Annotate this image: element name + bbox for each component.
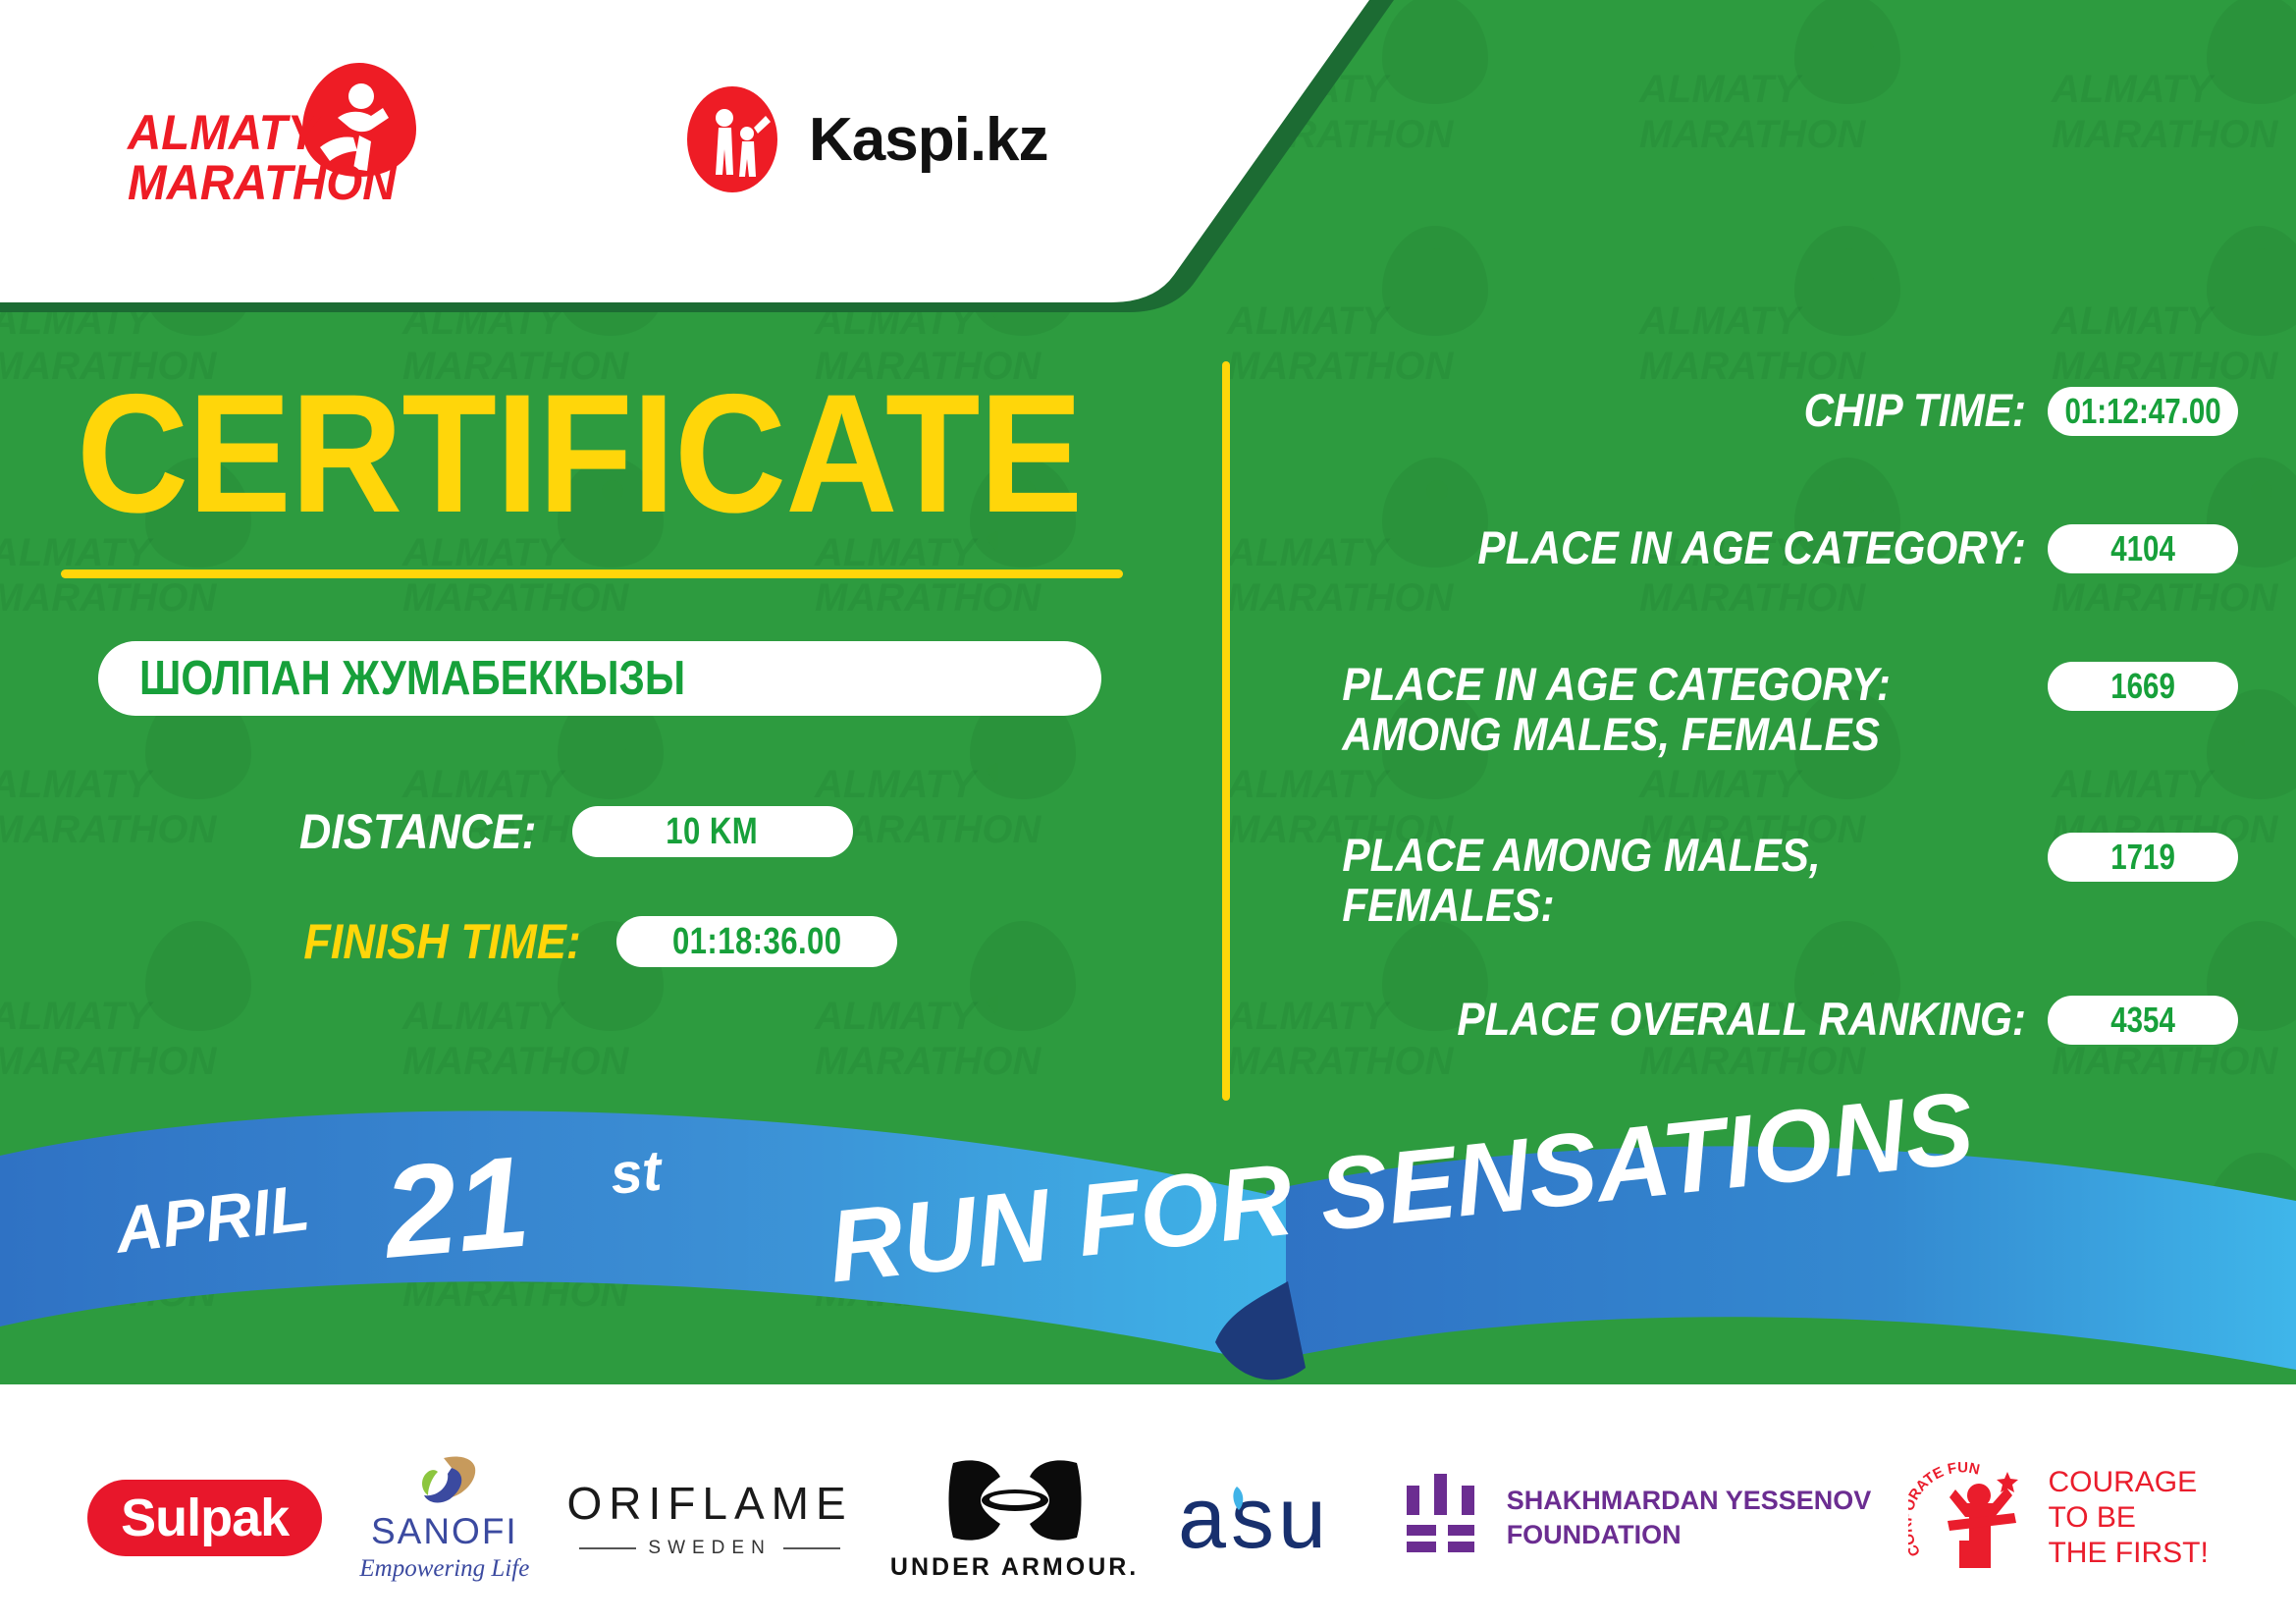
place-overall-label: PLACE OVERALL RANKING: xyxy=(1342,994,2026,1046)
watermark-logo-icon: ALMATY MARATHON xyxy=(1217,0,1541,181)
finish-time-row: FINISH TIME: 01:18:36.00 xyxy=(273,913,897,970)
certificate-page: ALMATY MARATHON ALMATY MARATHON xyxy=(0,0,2296,1624)
place-age-category-row: PLACE IN AGE CATEGORY: 4104 xyxy=(1266,522,2238,574)
distance-value: 10 KM xyxy=(667,811,759,853)
yessenov-line-2: FOUNDATION xyxy=(1507,1518,1872,1552)
svg-text:ALMATY: ALMATY xyxy=(1638,299,1803,343)
logo-line-1: ALMATY xyxy=(128,108,397,158)
distance-value-pill: 10 KM xyxy=(572,806,853,857)
watermark-logo-icon: ALMATY MARATHON xyxy=(2042,206,2296,412)
logo-line-2: MARATHON xyxy=(128,158,397,208)
place-overall-value-pill: 4354 xyxy=(2048,996,2238,1045)
svg-text:MARATHON: MARATHON xyxy=(1639,576,1866,620)
courage-fund-tagline: COURAGETO BETHE FIRST! xyxy=(2048,1465,2208,1571)
sanofi-wordmark: SANOFI xyxy=(371,1511,518,1552)
title-underline xyxy=(61,569,1123,578)
kaspi-logo: Kaspi.kz xyxy=(677,84,1048,194)
oriflame-tagline: SWEDEN xyxy=(648,1538,771,1559)
svg-text:MARATHON: MARATHON xyxy=(2052,1040,2278,1083)
svg-text:ALMATY: ALMATY xyxy=(1638,763,1803,806)
svg-text:ALMATY: ALMATY xyxy=(2051,299,2216,343)
kaspi-mark-icon xyxy=(677,84,787,194)
sulpak-wordmark: Sulpak xyxy=(121,1488,289,1548)
svg-text:a: a xyxy=(1178,1473,1226,1563)
svg-text:MARATHON: MARATHON xyxy=(1639,345,1866,388)
place-age-category-label: PLACE IN AGE CATEGORY: xyxy=(1342,522,2026,574)
place-among-gender-value: 1719 xyxy=(2110,837,2175,878)
svg-text:ALMATY: ALMATY xyxy=(0,995,154,1038)
yessenov-line-1: SHAKHMARDAN YESSENOV xyxy=(1507,1484,1872,1518)
oriflame-wordmark: ORIFLAME xyxy=(567,1477,853,1530)
courage-fund-mark-icon: CORPORATE FUND xyxy=(1908,1460,2036,1576)
under-armour-wordmark: UNDER ARMOUR. xyxy=(890,1553,1139,1582)
sanofi-mark-icon xyxy=(408,1454,481,1507)
svg-text:ALMATY: ALMATY xyxy=(1226,763,1391,806)
svg-text:MARATHON: MARATHON xyxy=(2052,113,2278,156)
courage-line: THE FIRST! xyxy=(2048,1536,2208,1571)
watermark-logo-icon: ALMATY MARATHON xyxy=(1217,206,1541,412)
svg-text:u: u xyxy=(1278,1473,1326,1563)
chip-time-value-pill: 01:12:47.00 xyxy=(2048,387,2238,436)
sponsor-logo-sulpak: Sulpak xyxy=(87,1480,322,1556)
sanofi-tagline: Empowering Life xyxy=(359,1555,529,1583)
chip-time-value: 01:12:47.00 xyxy=(2064,391,2220,432)
svg-text:ALMATY: ALMATY xyxy=(401,995,566,1038)
almaty-marathon-wordmark: ALMATY MARATHON xyxy=(128,108,397,208)
distance-row: DISTANCE: 10 KM xyxy=(273,803,853,860)
sponsor-logo-under-armour: UNDER ARMOUR. xyxy=(890,1455,1139,1582)
svg-text:MARATHON: MARATHON xyxy=(815,1040,1041,1083)
svg-text:ALMATY: ALMATY xyxy=(401,299,566,343)
svg-text:MARATHON: MARATHON xyxy=(0,1040,217,1083)
participant-name-value: ШОЛПАН ЖУМАБЕККЫЗЫ xyxy=(139,651,685,706)
sponsor-logo-oriflame: ORIFLAME SWEDEN xyxy=(567,1477,853,1559)
svg-text:MARATHON: MARATHON xyxy=(1227,113,1454,156)
watermark-logo-icon: ALMATY MARATHON xyxy=(2042,0,2296,181)
place-overall-row: PLACE OVERALL RANKING: 4354 xyxy=(1266,994,2238,1046)
sponsor-strip: Sulpak SANOFI Empowering Life ORIFLAME S… xyxy=(0,1412,2296,1624)
svg-text:MARATHON: MARATHON xyxy=(1227,576,1454,620)
svg-text:MARATHON: MARATHON xyxy=(402,576,629,620)
sponsor-logo-courage-fund: CORPORATE FUND COURAGETO BETHE FIRST! xyxy=(1908,1460,2208,1576)
svg-text:ALMATY: ALMATY xyxy=(1638,68,1803,111)
svg-text:MARATHON: MARATHON xyxy=(1227,1040,1454,1083)
svg-text:s: s xyxy=(1231,1473,1274,1563)
place-among-gender-row: PLACE AMONG MALES, FEMALES: 1719 xyxy=(1266,831,2238,931)
svg-text:MARATHON: MARATHON xyxy=(0,576,217,620)
svg-text:ALMATY: ALMATY xyxy=(0,299,154,343)
sponsor-logo-asu: a s u xyxy=(1176,1473,1362,1563)
sponsor-logo-yessenov-foundation: SHAKHMARDAN YESSENOV FOUNDATION xyxy=(1401,1470,1872,1566)
place-among-gender-label: PLACE AMONG MALES, FEMALES: xyxy=(1342,831,2026,931)
participant-name-field: ШОЛПАН ЖУМАБЕККЫЗЫ xyxy=(98,641,1101,716)
page-title: CERTIFICATE xyxy=(77,371,1082,537)
kaspi-wordmark: Kaspi.kz xyxy=(809,105,1048,175)
chip-time-row: CHIP TIME: 01:12:47.00 xyxy=(1266,385,2238,437)
svg-text:MARATHON: MARATHON xyxy=(1639,1040,1866,1083)
svg-text:MARATHON: MARATHON xyxy=(1639,113,1866,156)
chip-time-label: CHIP TIME: xyxy=(1342,385,2026,437)
place-among-gender-value-pill: 1719 xyxy=(2048,833,2238,882)
svg-text:ALMATY: ALMATY xyxy=(2051,68,2216,111)
svg-text:MARATHON: MARATHON xyxy=(0,808,217,851)
oriflame-rule-left xyxy=(579,1547,636,1549)
oriflame-sub: SWEDEN xyxy=(579,1538,839,1559)
svg-text:MARATHON: MARATHON xyxy=(2052,576,2278,620)
svg-text:ALMATY: ALMATY xyxy=(2051,763,2216,806)
svg-text:ALMATY: ALMATY xyxy=(814,763,979,806)
watermark-logo-icon: ALMATY MARATHON xyxy=(0,901,304,1108)
svg-text:ALMATY: ALMATY xyxy=(1226,68,1391,111)
svg-text:MARATHON: MARATHON xyxy=(815,576,1041,620)
svg-text:ALMATY: ALMATY xyxy=(0,763,154,806)
asu-wordmark-icon: a s u xyxy=(1176,1473,1362,1563)
finish-time-value-pill: 01:18:36.00 xyxy=(616,916,897,967)
watermark-tile: ALMATY MARATHON xyxy=(1590,0,2002,192)
ribbon-day-suffix: st xyxy=(608,1138,664,1208)
place-age-category-gender-value: 1669 xyxy=(2110,666,2175,707)
svg-text:MARATHON: MARATHON xyxy=(1227,345,1454,388)
watermark-logo-icon: ALMATY MARATHON xyxy=(1629,0,1953,181)
svg-text:ALMATY: ALMATY xyxy=(1226,299,1391,343)
distance-label: DISTANCE: xyxy=(299,803,537,860)
place-overall-value: 4354 xyxy=(2110,1000,2175,1041)
svg-text:ALMATY: ALMATY xyxy=(401,763,566,806)
sponsor-logo-sanofi: SANOFI Empowering Life xyxy=(359,1454,529,1583)
svg-text:ALMATY: ALMATY xyxy=(814,299,979,343)
place-age-category-value-pill: 4104 xyxy=(2048,524,2238,573)
watermark-tile: ALMATY MARATHON xyxy=(2002,0,2296,192)
ribbon-day: 21 xyxy=(378,1126,534,1286)
svg-text:ALMATY: ALMATY xyxy=(814,995,979,1038)
under-armour-mark-icon xyxy=(945,1455,1085,1545)
watermark-logo-icon: ALMATY MARATHON xyxy=(1629,206,1953,412)
place-age-category-value: 4104 xyxy=(2110,528,2175,569)
place-age-category-gender-label: PLACE IN AGE CATEGORY: AMONG MALES, FEMA… xyxy=(1342,660,2026,760)
yessenov-wordmark: SHAKHMARDAN YESSENOV FOUNDATION xyxy=(1507,1484,1872,1552)
courage-line: COURAGE xyxy=(2048,1465,2208,1500)
place-age-category-gender-row: PLACE IN AGE CATEGORY: AMONG MALES, FEMA… xyxy=(1266,660,2238,760)
watermark-tile: ALMATY MARATHON xyxy=(1178,0,1590,192)
svg-text:MARATHON: MARATHON xyxy=(2052,345,2278,388)
finish-time-value: 01:18:36.00 xyxy=(672,921,842,963)
section-divider xyxy=(1222,361,1230,1101)
courage-line: TO BE xyxy=(2048,1500,2208,1536)
place-age-category-gender-value-pill: 1669 xyxy=(2048,662,2238,711)
finish-time-label: FINISH TIME: xyxy=(303,913,580,970)
svg-text:MARATHON: MARATHON xyxy=(402,1040,629,1083)
yessenov-mark-icon xyxy=(1401,1470,1485,1566)
oriflame-rule-right xyxy=(783,1547,840,1549)
